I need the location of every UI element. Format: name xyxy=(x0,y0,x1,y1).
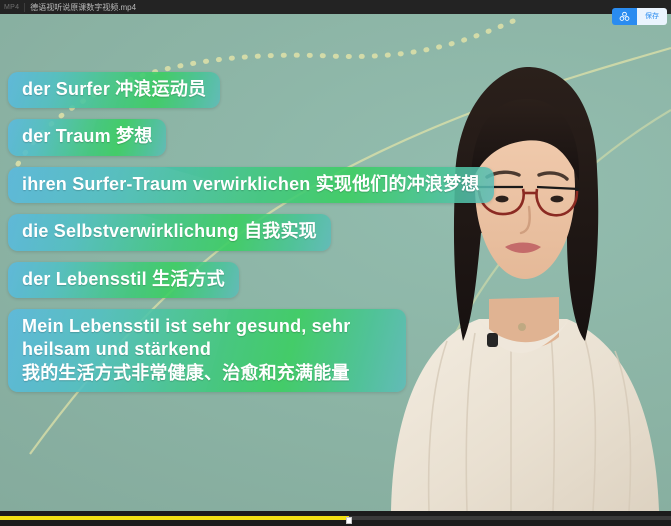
progress-bar-track[interactable] xyxy=(0,516,671,520)
baidu-netdisk-icon xyxy=(619,11,630,22)
subtitle-card-5-line-1: der Lebensstil 生活方式 xyxy=(22,268,225,291)
subtitle-card-6-line-2: 我的生活方式非常健康、治愈和充满能量 xyxy=(22,362,392,385)
subtitle-card-3-line-1: ihren Surfer-Traum verwirklichen 实现他们的冲浪… xyxy=(22,173,480,196)
video-stage[interactable]: der Surfer 冲浪运动员 der Traum 梦想 ihren Surf… xyxy=(0,14,671,511)
save-to-cloud-button[interactable]: 保存 xyxy=(637,8,667,25)
subtitle-card-5: der Lebensstil 生活方式 xyxy=(8,262,239,298)
subtitle-card-4-line-1: die Selbstverwirklichung 自我实现 xyxy=(22,220,317,243)
subtitle-card-3: ihren Surfer-Traum verwirklichen 实现他们的冲浪… xyxy=(8,167,494,203)
save-to-cloud-label: 保存 xyxy=(645,13,659,20)
title-bar: MP4 德语视听说原课数字视频.mp4 xyxy=(0,0,671,14)
subtitle-card-2-line-1: der Traum 梦想 xyxy=(22,125,152,148)
file-name-label: 德语视听说原课数字视频.mp4 xyxy=(30,2,136,13)
subtitle-card-6: Mein Lebensstil ist sehr gesund, sehr he… xyxy=(8,309,406,392)
file-type-label: MP4 xyxy=(0,4,19,11)
subtitle-card-1-line-1: der Surfer 冲浪运动员 xyxy=(22,78,206,101)
subtitle-card-list: der Surfer 冲浪运动员 der Traum 梦想 ihren Surf… xyxy=(8,72,448,392)
player-control-bar xyxy=(0,511,671,526)
progress-bar-fill xyxy=(0,516,349,520)
video-player-window: MP4 德语视听说原课数字视频.mp4 保存 xyxy=(0,0,671,526)
subtitle-card-1: der Surfer 冲浪运动员 xyxy=(8,72,220,108)
title-bar-divider xyxy=(24,3,25,12)
subtitle-card-6-line-1: Mein Lebensstil ist sehr gesund, sehr he… xyxy=(22,315,392,362)
progress-bar-handle[interactable] xyxy=(346,517,352,524)
baidu-netdisk-button[interactable] xyxy=(612,8,637,25)
subtitle-card-4: die Selbstverwirklichung 自我实现 xyxy=(8,214,331,250)
subtitle-card-2: der Traum 梦想 xyxy=(8,119,166,155)
top-right-actions: 保存 xyxy=(612,8,667,25)
